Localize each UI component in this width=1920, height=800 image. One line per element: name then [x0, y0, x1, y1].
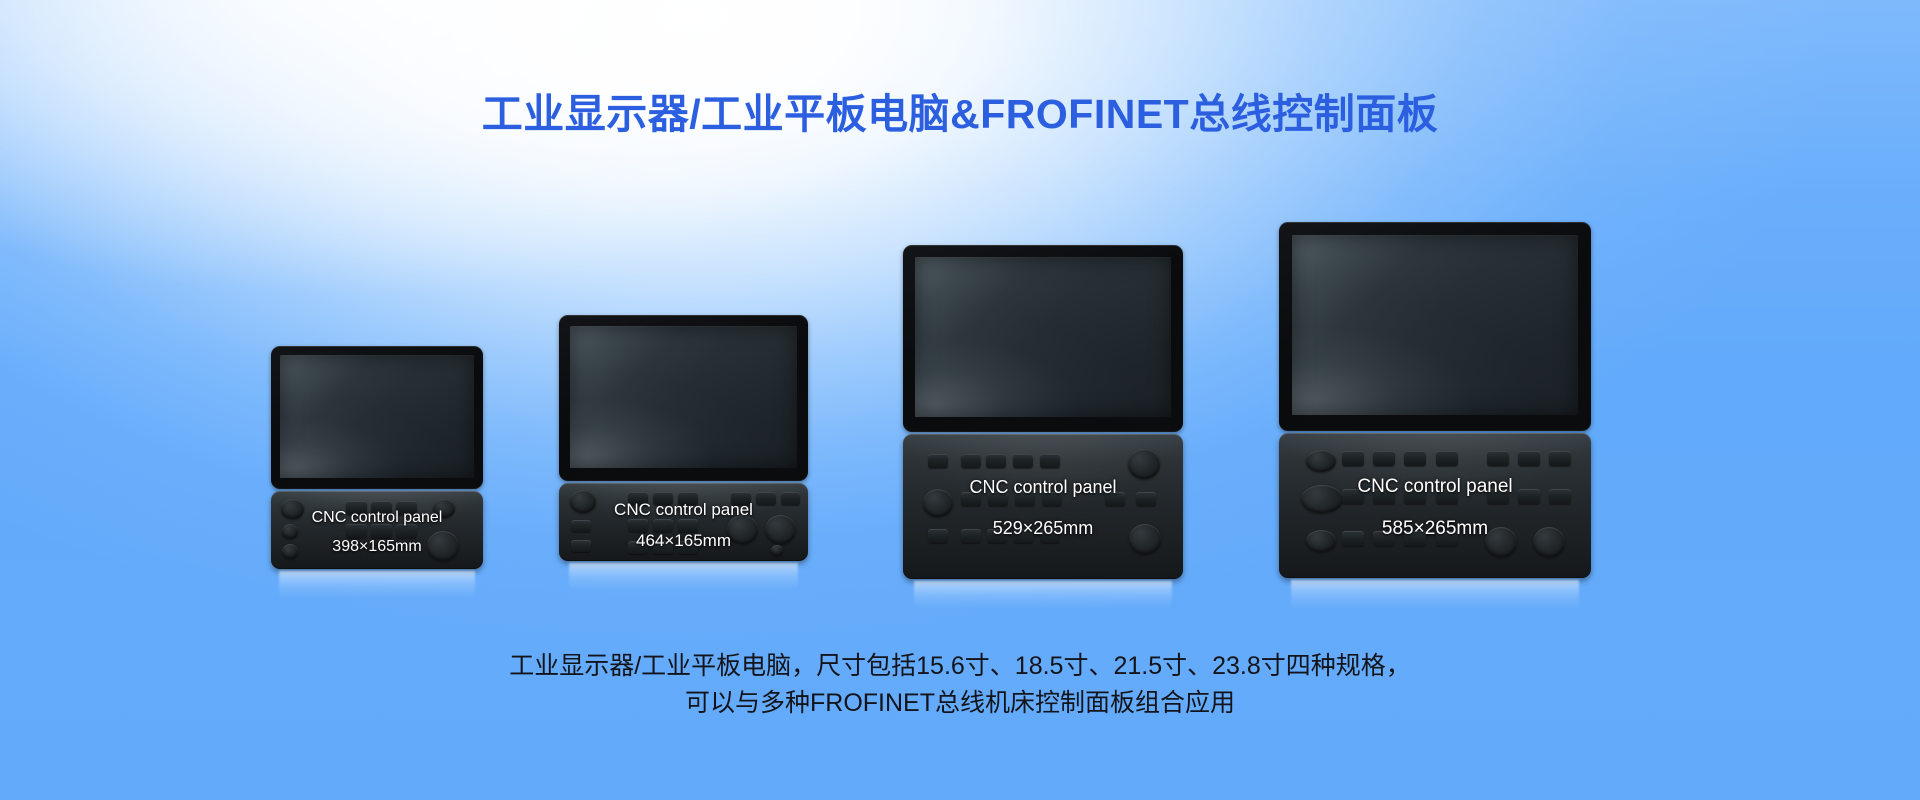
device-3-monitor	[903, 245, 1183, 432]
device-1-button-5[interactable]	[371, 524, 392, 538]
device-2-button-5[interactable]	[678, 492, 698, 505]
device-4-button-r3c1[interactable]	[1342, 531, 1364, 546]
device-1-button-2[interactable]	[371, 501, 392, 515]
device-4-button-r2c7[interactable]	[1549, 489, 1571, 504]
device-1-knob-c[interactable]	[282, 544, 298, 559]
device-3-button-r2c4[interactable]	[1015, 492, 1035, 506]
device-2-button-12[interactable]	[731, 492, 751, 505]
device-4-button-r3c3[interactable]	[1404, 531, 1426, 546]
device-3-knob-b[interactable]	[923, 489, 953, 517]
device-4-knob-e[interactable]	[1533, 527, 1565, 557]
device-1-knob-a[interactable]	[281, 499, 304, 519]
device-4-button-r2c3[interactable]	[1404, 489, 1426, 504]
device-4-button-r2c6[interactable]	[1518, 489, 1540, 504]
device-3-button-r1c5[interactable]	[1040, 454, 1060, 468]
device-4-button-r2c2[interactable]	[1373, 489, 1395, 504]
device-2[interactable]: CNC control panel 464×165mm	[559, 315, 808, 561]
device-3-knob-c[interactable]	[1129, 524, 1161, 554]
device-1-keypad[interactable]: CNC control panel 398×165mm	[271, 491, 483, 569]
device-2-button-8[interactable]	[678, 519, 698, 532]
device-3-button-r1c2[interactable]	[961, 454, 981, 468]
device-2-button-13[interactable]	[756, 492, 776, 505]
device-4-knob-a[interactable]	[1306, 450, 1336, 472]
device-1-button-4[interactable]	[346, 524, 367, 538]
device-4-screen	[1292, 235, 1578, 415]
device-2-knob-d[interactable]	[771, 545, 783, 556]
device-3-button-r2c7[interactable]	[1136, 492, 1156, 506]
device-4-button-r1c4[interactable]	[1436, 451, 1458, 466]
device-1-button-1[interactable]	[346, 501, 367, 515]
device-3[interactable]: CNC control panel 529×265mm	[903, 245, 1183, 579]
device-4[interactable]: CNC control panel 585×265mm	[1279, 222, 1591, 578]
device-3-button-r3c5[interactable]	[1040, 529, 1060, 543]
device-3-button-r1c1[interactable]	[928, 454, 948, 468]
device-1[interactable]: CNC control panel 398×165mm	[271, 346, 483, 569]
device-1-monitor	[271, 346, 483, 489]
device-4-keypad[interactable]: CNC control panel 585×265mm	[1279, 433, 1591, 578]
caption-line-1: 工业显示器/工业平板电脑，尺寸包括15.6寸、18.5寸、21.5寸、23.8寸…	[0, 648, 1920, 685]
device-2-knob-a[interactable]	[570, 490, 596, 513]
device-2-button-10[interactable]	[653, 541, 673, 554]
device-4-knob-c[interactable]	[1306, 530, 1336, 552]
device-3-button-r3c2[interactable]	[961, 529, 981, 543]
device-1-knob-d[interactable]	[433, 499, 455, 518]
device-3-button-r1c4[interactable]	[1013, 454, 1033, 468]
device-4-button-r2c1[interactable]	[1342, 489, 1364, 504]
device-3-button-r2c2[interactable]	[961, 492, 981, 506]
promo-banner: 工业显示器/工业平板电脑&FROFINET总线控制面板	[0, 0, 1920, 800]
device-2-button-14[interactable]	[781, 492, 800, 505]
device-2-knob-b[interactable]	[727, 515, 758, 544]
device-4-button-r2c5[interactable]	[1487, 489, 1509, 504]
device-2-keypad[interactable]: CNC control panel 464×165mm	[559, 483, 808, 561]
device-3-button-r2c3[interactable]	[988, 492, 1008, 506]
device-2-button-3[interactable]	[628, 492, 648, 505]
device-1-button-3[interactable]	[396, 501, 417, 515]
device-2-knob-c[interactable]	[765, 515, 796, 544]
device-4-knob-d[interactable]	[1485, 527, 1517, 557]
device-4-button-r1c3[interactable]	[1404, 451, 1426, 466]
device-4-button-r1c7[interactable]	[1549, 451, 1571, 466]
device-4-button-r1c6[interactable]	[1518, 451, 1540, 466]
device-3-button-r3c4[interactable]	[1013, 529, 1033, 543]
device-1-knob-e[interactable]	[427, 531, 459, 561]
device-3-button-r1c3[interactable]	[986, 454, 1006, 468]
device-4-button-r2c4[interactable]	[1436, 489, 1458, 504]
device-4-button-r3c4[interactable]	[1436, 531, 1458, 546]
device-4-button-r1c1[interactable]	[1342, 451, 1364, 466]
device-2-reflection	[569, 563, 798, 591]
device-3-button-r2c5[interactable]	[1042, 492, 1062, 506]
device-2-button-2[interactable]	[571, 540, 591, 552]
device-4-knob-b[interactable]	[1301, 485, 1343, 513]
device-1-button-6[interactable]	[396, 524, 417, 538]
device-3-reflection	[914, 581, 1172, 609]
caption-block: 工业显示器/工业平板电脑，尺寸包括15.6寸、18.5寸、21.5寸、23.8寸…	[0, 648, 1920, 722]
device-4-button-r3c2[interactable]	[1373, 531, 1395, 546]
device-2-button-1[interactable]	[571, 520, 591, 532]
device-2-button-9[interactable]	[628, 541, 648, 554]
device-3-knob-a[interactable]	[1128, 449, 1160, 479]
device-3-button-r3c1[interactable]	[928, 529, 948, 543]
device-3-screen	[915, 257, 1171, 417]
device-3-keypad[interactable]: CNC control panel 529×265mm	[903, 434, 1183, 579]
device-1-screen	[280, 355, 474, 478]
device-1-reflection	[279, 571, 475, 599]
device-2-button-4[interactable]	[653, 492, 673, 505]
device-2-button-11[interactable]	[678, 541, 698, 554]
device-2-button-7[interactable]	[653, 519, 673, 532]
device-4-monitor	[1279, 222, 1591, 431]
device-1-knob-b[interactable]	[282, 524, 298, 539]
device-3-button-r2c6[interactable]	[1105, 492, 1125, 506]
device-3-button-r3c3[interactable]	[987, 529, 1007, 543]
device-4-button-r1c5[interactable]	[1487, 451, 1509, 466]
device-2-button-6[interactable]	[628, 519, 648, 532]
device-2-monitor	[559, 315, 808, 481]
device-4-button-r1c2[interactable]	[1373, 451, 1395, 466]
device-2-screen	[570, 326, 797, 468]
caption-line-2: 可以与多种FROFINET总线机床控制面板组合应用	[0, 685, 1920, 722]
device-4-reflection	[1291, 580, 1579, 610]
